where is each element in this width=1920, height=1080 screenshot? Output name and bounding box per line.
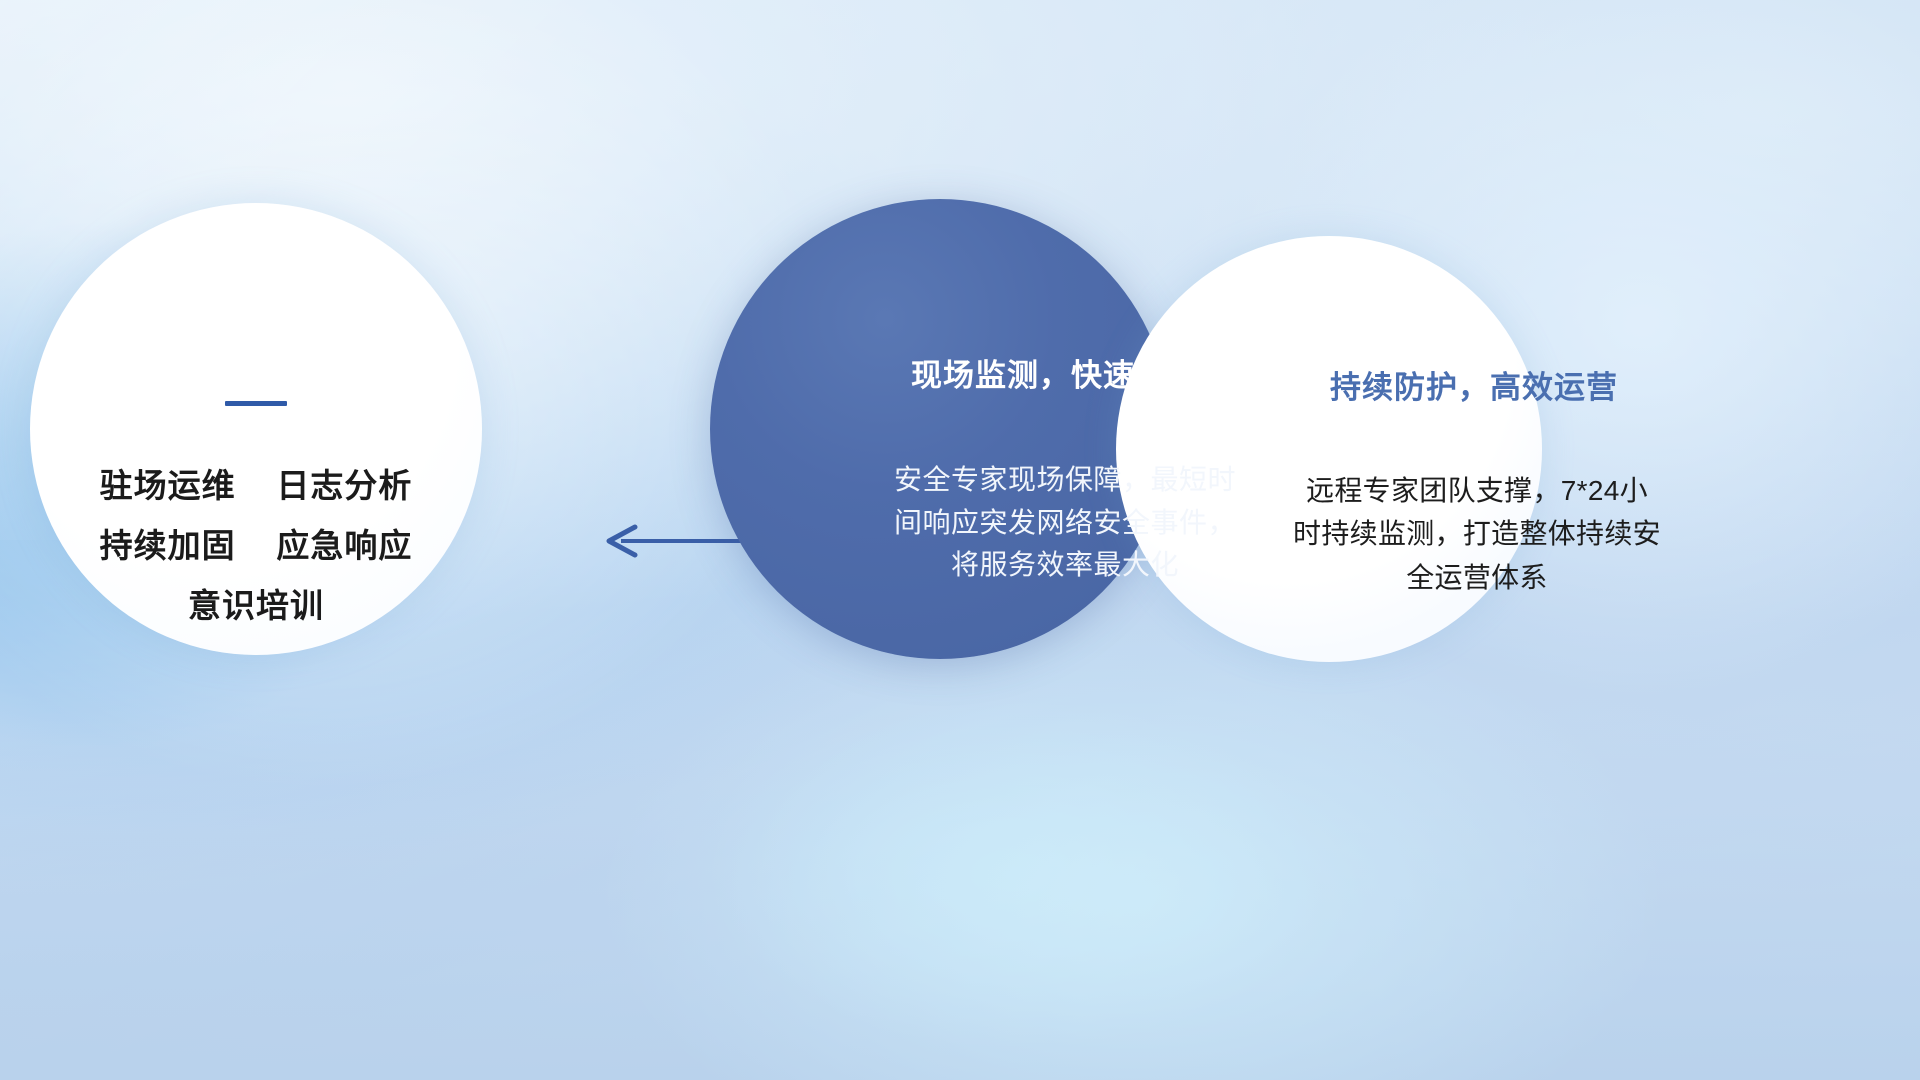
left-circle-divider — [225, 401, 287, 406]
left-circle-line-1: 驻场运维 日志分析 — [100, 469, 413, 502]
left-circle-line-3: 意识培训 — [188, 589, 324, 622]
right-circle-title: 持续防护，高效运营 — [1330, 362, 1618, 407]
middle-circle-content: 现场监测，快速响应 安全专家现场保障，最短时间响应突发网络安全事件，将服务效率最… — [710, 199, 1170, 659]
right-circle-body: 远程专家团队支撑，7*24小时持续监测，打造整体持续安全运营体系 — [1292, 469, 1662, 599]
left-circle-line-2: 持续加固 应急响应 — [100, 529, 413, 562]
right-circle-content: 持续防护，高效运营 远程专家团队支撑，7*24小时持续监测，打造整体持续安全运营… — [1116, 236, 1542, 662]
left-circle-content: 驻场运维 日志分析 持续加固 应急响应 意识培训 — [30, 203, 482, 655]
